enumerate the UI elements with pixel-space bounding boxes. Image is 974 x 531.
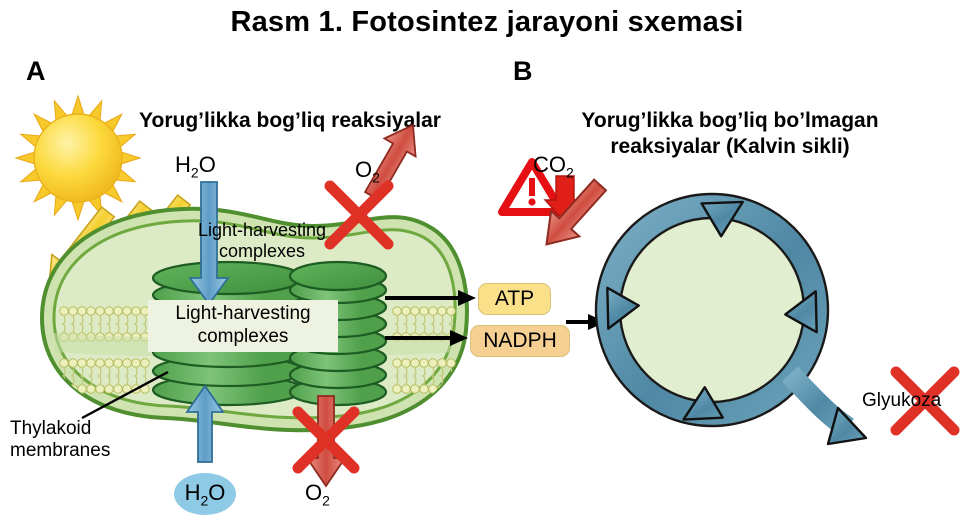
- label-lhc-inner: Light-harvesting complexes: [148, 300, 338, 352]
- label-oxygen-top: O2: [355, 157, 380, 185]
- label-thylakoid-membranes: Thylakoid membranes: [10, 418, 145, 462]
- label-water-bottom: H2O: [185, 480, 226, 508]
- label-lhc-outer: Light-harvesting complexes: [196, 220, 328, 261]
- product-atp: ATP: [478, 283, 551, 315]
- diagram-canvas: [0, 0, 974, 531]
- product-nadph: NADPH: [470, 325, 570, 357]
- sun-icon: [16, 96, 140, 220]
- label-oxygen-bottom: O2: [305, 480, 330, 508]
- calvin-cycle-ring: [596, 194, 866, 444]
- label-water-top: H2O: [175, 152, 216, 180]
- label-carbon-dioxide: CO2: [533, 152, 574, 180]
- water-bubble-bottom: H2O: [174, 473, 236, 515]
- label-glucose: Glyukoza: [862, 390, 941, 412]
